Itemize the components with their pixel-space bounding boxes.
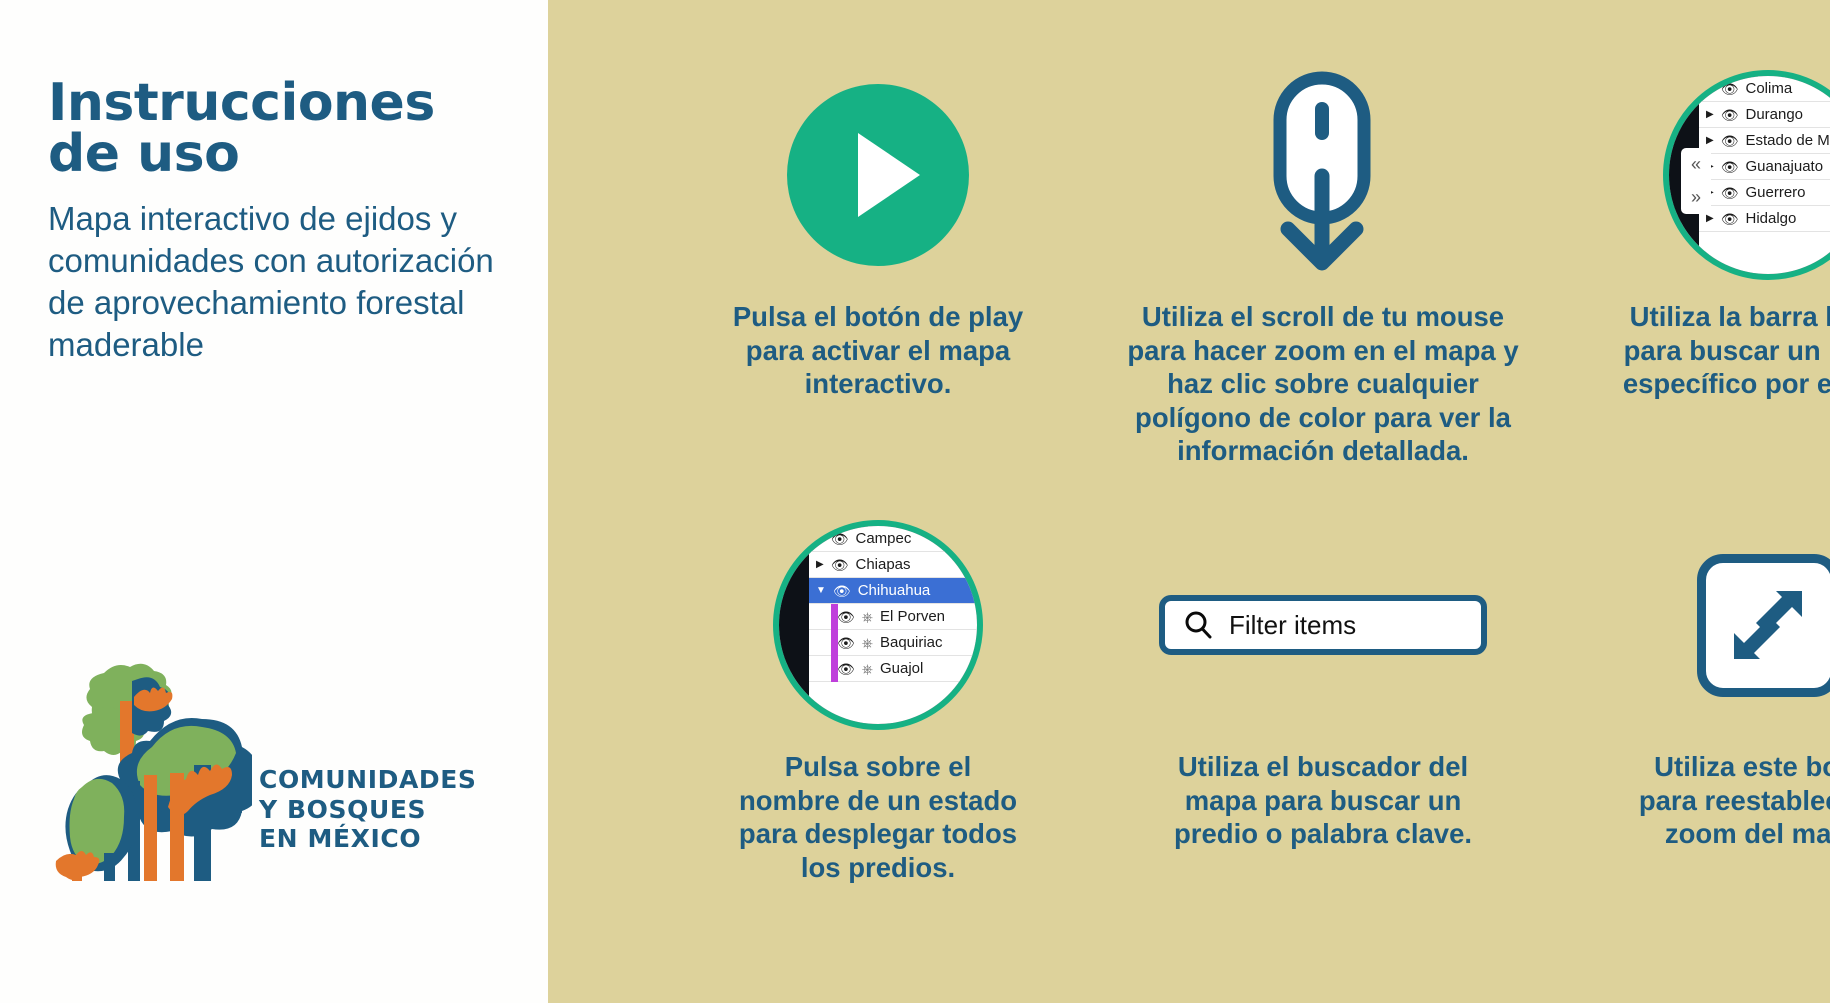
polygon-icon: ⎈ (862, 662, 873, 676)
expand-arrow-icon[interactable]: ▶ (816, 560, 824, 570)
polygon-icon: ⎈ (862, 636, 873, 650)
eye-icon[interactable]: 👁 (1721, 134, 1739, 148)
expand-arrow-icon[interactable]: ▶ (1706, 84, 1714, 94)
eye-icon[interactable]: 👁 (831, 558, 849, 572)
predio-label: Guajol (880, 660, 923, 677)
list-item[interactable]: ▶ 👁 Guerrero (1699, 180, 1830, 206)
list-item[interactable]: ▶ 👁 Colima (1699, 76, 1830, 102)
tile-reset-zoom-caption: Utiliza este botón para reestablecer el … (1568, 750, 1830, 851)
play-triangle-icon (858, 133, 920, 217)
tile-expand-state: ▶ 👁 Campec ▶ 👁 Chiapas ▼ 👁 Chihua (678, 500, 1078, 884)
search-icon (1183, 610, 1213, 640)
tile-scroll-art (1123, 50, 1523, 300)
state-list: ▶ 👁 Colima ▶ 👁 Durango ▶ 👁 Estado (1699, 76, 1830, 274)
tile-expand-state-caption: Pulsa sobre el nombre de un estado para … (678, 750, 1078, 884)
eye-icon[interactable]: 👁 (837, 636, 855, 650)
tile-reset-zoom-art (1568, 500, 1830, 750)
tile-sidebar-caption: Utiliza la barra lateral para buscar un … (1568, 300, 1830, 401)
state-label: Durango (1745, 106, 1803, 123)
sidebar-collapse-controls[interactable]: « » (1681, 148, 1711, 214)
instructions-grid: Pulsa el botón de play para activar el m… (548, 0, 1830, 1003)
chevron-right-icon[interactable]: » (1691, 187, 1701, 208)
eye-icon[interactable]: 👁 (837, 610, 855, 624)
list-item-selected[interactable]: ▼ 👁 Chihuahua (809, 578, 983, 604)
tile-sidebar-art: « » ▶ 👁 Colima ▶ 👁 Durango (1568, 50, 1830, 300)
tile-play: Pulsa el botón de play para activar el m… (678, 50, 1078, 401)
logo-wordmark-line3: EN MÉXICO (259, 824, 477, 854)
predio-label: Baquiriac (880, 634, 943, 651)
logo-wordmark-line2: Y BOSQUES (259, 795, 477, 825)
eye-icon[interactable]: 👁 (1721, 160, 1739, 174)
expand-arrow-icon[interactable]: ▶ (1706, 110, 1714, 120)
tile-play-art (678, 50, 1078, 300)
expand-arrows-icon (1726, 583, 1810, 667)
tile-reset-zoom: Utiliza este botón para reestablecer el … (1568, 500, 1830, 851)
predio-label: El Porven (880, 608, 945, 625)
page-title-line1: Instrucciones (48, 78, 518, 129)
eye-icon[interactable]: 👁 (1721, 186, 1739, 200)
tile-filter-caption: Utiliza el buscador del mapa para buscar… (1123, 750, 1523, 851)
eye-icon[interactable]: 👁 (1721, 82, 1739, 96)
list-item[interactable]: ▶ 👁 Estado de Méx (1699, 128, 1830, 154)
list-item-child[interactable]: 👁 ⎈ El Porven (809, 604, 983, 630)
page-title-line2: de uso (48, 129, 518, 180)
eye-icon[interactable]: 👁 (837, 662, 855, 676)
logo: COMUNIDADES Y BOSQUES EN MÉXICO (42, 655, 472, 915)
list-item-child[interactable]: 👁 ⎈ Baquiriac (809, 630, 983, 656)
tile-scroll: Utiliza el scroll de tu mouse para hacer… (1123, 50, 1523, 468)
forest-trees-logo-icon (42, 655, 252, 905)
eye-icon[interactable]: 👁 (1721, 108, 1739, 122)
state-label: Colima (1745, 80, 1792, 97)
state-label: Chiapas (855, 556, 910, 573)
eye-icon[interactable]: 👁 (833, 584, 851, 598)
expanded-state-screenshot[interactable]: ▶ 👁 Campec ▶ 👁 Chiapas ▼ 👁 Chihua (773, 520, 983, 730)
page-title: Instrucciones de uso (48, 78, 518, 180)
list-item[interactable]: ▶ 👁 Campec (809, 526, 983, 552)
reset-zoom-button[interactable] (1697, 554, 1830, 697)
collapse-arrow-icon[interactable]: ▼ (816, 586, 826, 596)
state-label: Guerrero (1745, 184, 1805, 201)
state-label: Chihuahua (858, 582, 931, 599)
page-subtitle: Mapa interactivo de ejidos y comunidades… (48, 198, 518, 366)
state-label: Hidalgo (1745, 210, 1796, 227)
tile-play-caption: Pulsa el botón de play para activar el m… (678, 300, 1078, 401)
tile-filter-art: Filter items (1123, 500, 1523, 750)
mouse-scroll-down-icon (1258, 68, 1388, 283)
eye-icon[interactable]: 👁 (831, 532, 849, 546)
expand-arrow-icon[interactable]: ▶ (816, 534, 824, 544)
tile-scroll-caption: Utiliza el scroll de tu mouse para hacer… (1123, 300, 1523, 468)
tile-filter: Filter items Utiliza el buscador del map… (1123, 500, 1523, 851)
filter-input[interactable]: Filter items (1229, 610, 1356, 641)
intro-block: Instrucciones de uso Mapa interactivo de… (48, 78, 518, 366)
list-item[interactable]: ▶ 👁 Durango (1699, 102, 1830, 128)
logo-wordmark: COMUNIDADES Y BOSQUES EN MÉXICO (259, 765, 477, 854)
state-list-expanded: ▶ 👁 Campec ▶ 👁 Chiapas ▼ 👁 Chihua (809, 526, 983, 724)
chevron-left-icon[interactable]: « (1691, 154, 1701, 175)
state-label: Guanajuato (1745, 158, 1823, 175)
tile-sidebar: « » ▶ 👁 Colima ▶ 👁 Durango (1568, 50, 1830, 401)
left-panel: Instrucciones de uso Mapa interactivo de… (0, 0, 548, 1003)
logo-wordmark-line1: COMUNIDADES (259, 765, 477, 795)
play-button-icon[interactable] (787, 84, 969, 266)
polygon-icon: ⎈ (862, 610, 873, 624)
list-item[interactable]: ▶ 👁 Chiapas (809, 552, 983, 578)
list-item[interactable]: ▶ 👁 Guanajuato (1699, 154, 1830, 180)
search-filter-box[interactable]: Filter items (1159, 595, 1487, 655)
state-label: Campec (855, 530, 911, 547)
list-item-child[interactable]: 👁 ⎈ Guajol (809, 656, 983, 682)
expand-arrow-icon[interactable]: ▶ (1706, 214, 1714, 224)
instructions-slide: Instrucciones de uso Mapa interactivo de… (0, 0, 1830, 1003)
expand-arrow-icon[interactable]: ▶ (1706, 136, 1714, 146)
tile-expand-state-art: ▶ 👁 Campec ▶ 👁 Chiapas ▼ 👁 Chihua (678, 500, 1078, 750)
state-label: Estado de Méx (1745, 132, 1830, 149)
eye-icon[interactable]: 👁 (1721, 212, 1739, 226)
list-item[interactable]: ▶ 👁 Hidalgo (1699, 206, 1830, 232)
sidebar-states-screenshot[interactable]: « » ▶ 👁 Colima ▶ 👁 Durango (1663, 70, 1830, 280)
